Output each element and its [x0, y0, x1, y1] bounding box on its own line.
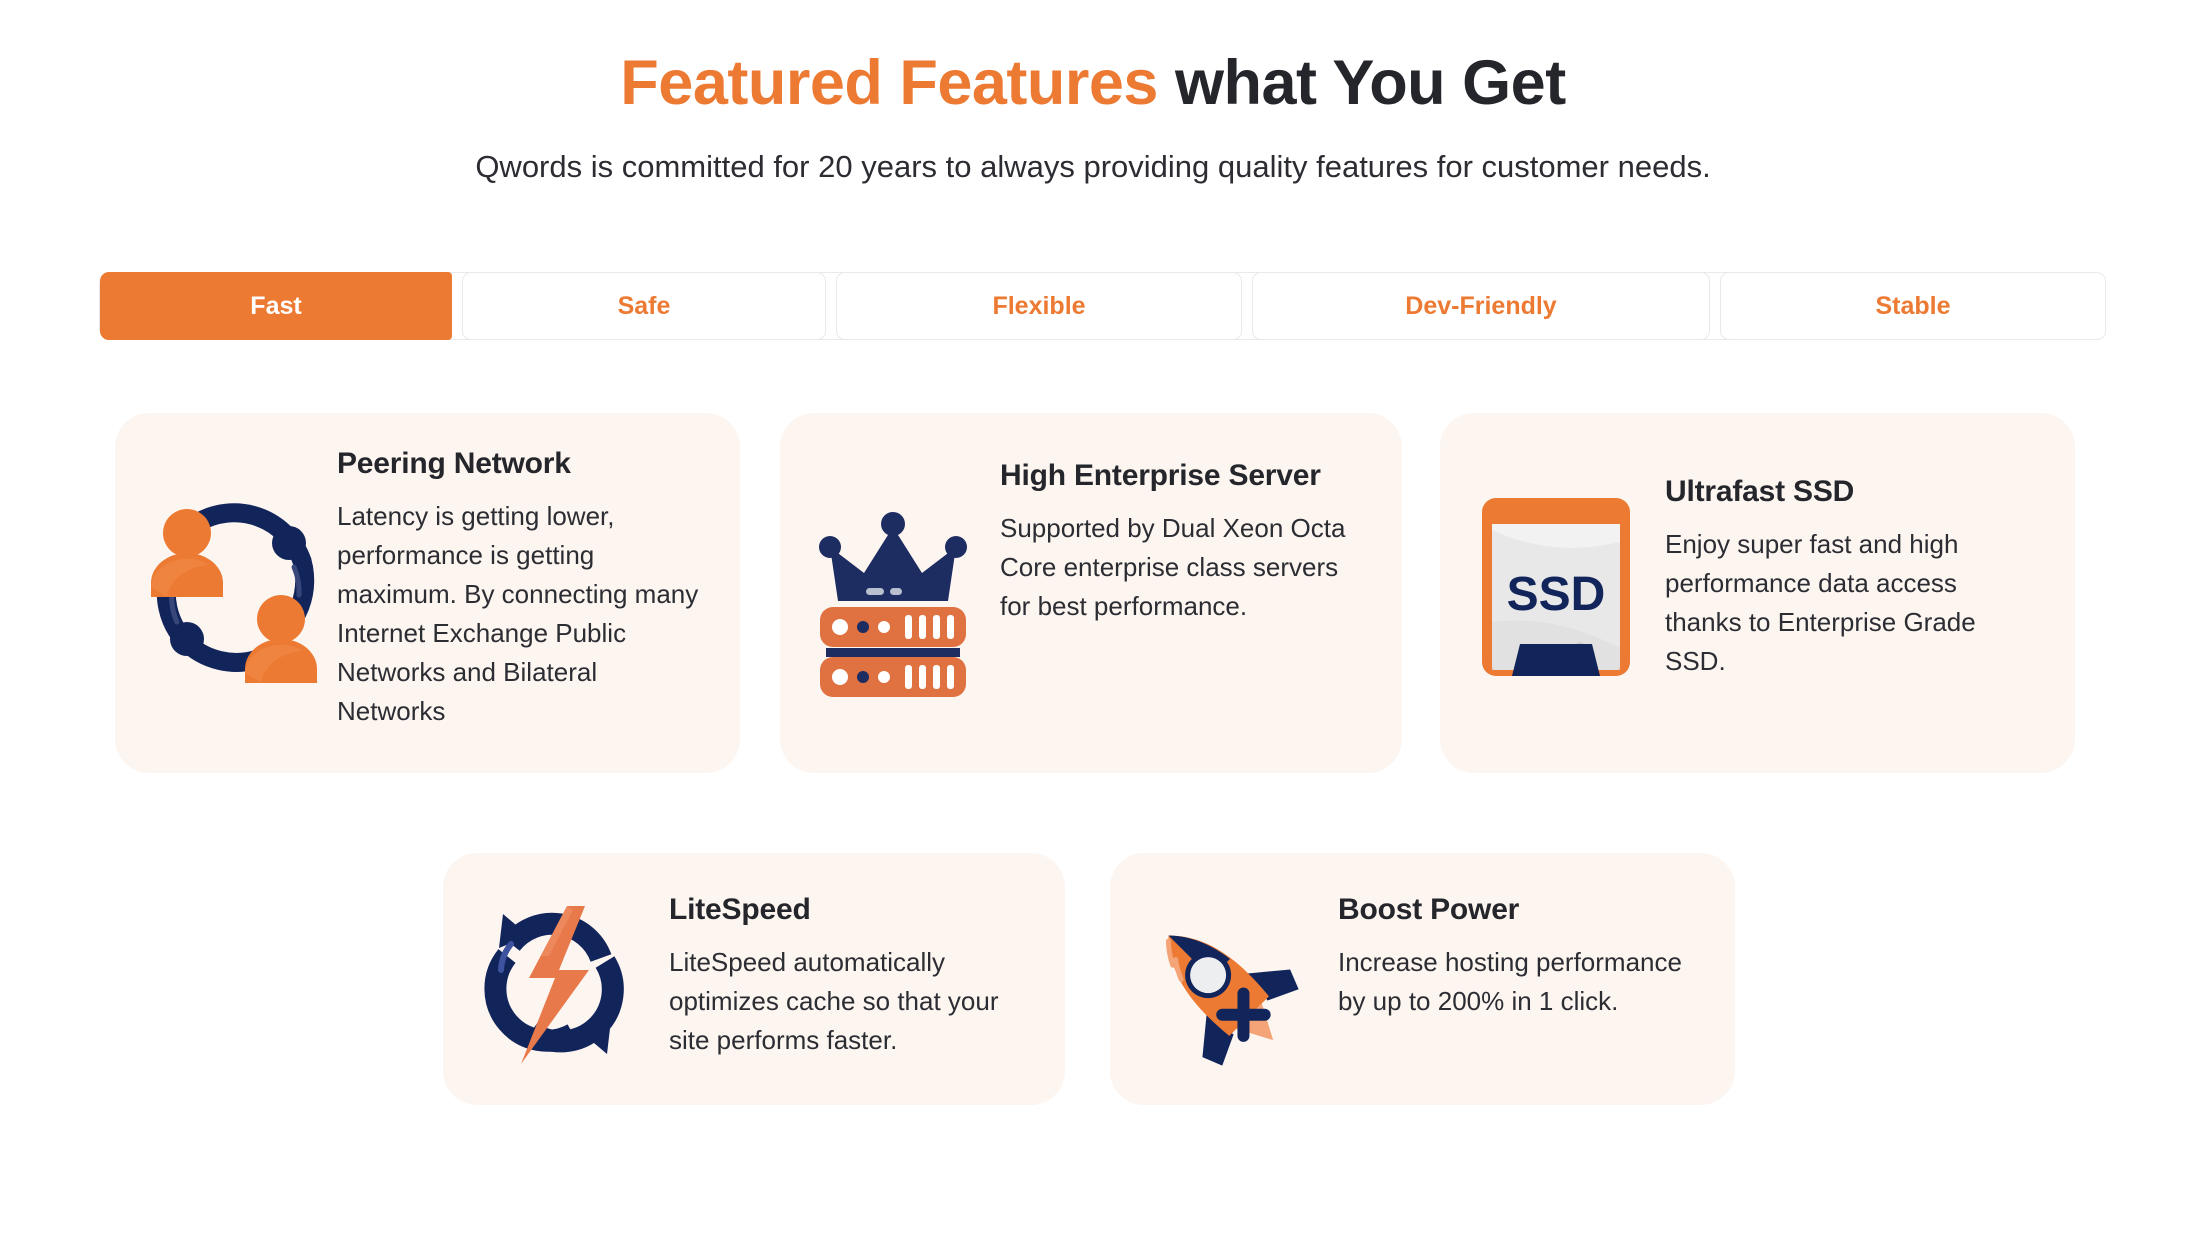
- card-title: High Enterprise Server: [1000, 457, 1358, 495]
- tab-dev-friendly[interactable]: Dev-Friendly: [1252, 272, 1710, 340]
- card-text-block: LiteSpeed LiteSpeed automatically optimi…: [669, 891, 1035, 1060]
- page-title-rest: what You Get: [1158, 48, 1566, 118]
- tab-stable[interactable]: Stable: [1720, 272, 2106, 340]
- card-title: LiteSpeed: [669, 891, 1035, 929]
- tab-flexible[interactable]: Flexible: [836, 272, 1242, 340]
- card-text-block: Boost Power Increase hosting performance…: [1338, 891, 1705, 1021]
- card-title: Boost Power: [1338, 891, 1705, 929]
- section-header: Featured Features what You Get Qwords is…: [0, 48, 2186, 187]
- card-description: Enjoy super fast and high performance da…: [1665, 525, 2031, 681]
- card-description: Latency is getting lower, performance is…: [337, 497, 700, 731]
- tab-safe[interactable]: Safe: [462, 272, 826, 340]
- feature-card-boost-power[interactable]: Boost Power Increase hosting performance…: [1110, 853, 1735, 1105]
- card-description: Increase hosting performance by up to 20…: [1338, 943, 1705, 1021]
- feature-card-high-enterprise-server[interactable]: High Enterprise Server Supported by Dual…: [780, 413, 1402, 773]
- card-description: LiteSpeed automatically optimizes cache …: [669, 943, 1035, 1060]
- peering-network-icon: [139, 475, 329, 705]
- feature-tabs: Fast Safe Flexible Dev-Friendly Stable: [99, 272, 2091, 340]
- rocket-boost-icon: [1138, 905, 1298, 1065]
- feature-card-peering-network[interactable]: Peering Network Latency is getting lower…: [115, 413, 740, 773]
- page-subtitle: Qwords is committed for 20 years to alwa…: [0, 147, 2186, 187]
- feature-card-ultrafast-ssd[interactable]: SSD Ultrafast SSD Enjoy super fast and h…: [1440, 413, 2075, 773]
- page-title: Featured Features what You Get: [0, 48, 2186, 119]
- litespeed-lightning-icon: [481, 905, 631, 1065]
- ssd-drive-icon: SSD: [1468, 489, 1643, 684]
- ssd-icon-label: SSD: [1506, 568, 1605, 621]
- page-title-accent: Featured Features: [620, 48, 1158, 118]
- features-section: Featured Features what You Get Qwords is…: [0, 0, 2186, 1236]
- card-text-block: High Enterprise Server Supported by Dual…: [1000, 457, 1358, 626]
- enterprise-server-crown-icon: [808, 505, 978, 685]
- card-text-block: Ultrafast SSD Enjoy super fast and high …: [1665, 473, 2031, 681]
- card-description: Supported by Dual Xeon Octa Core enterpr…: [1000, 509, 1358, 626]
- card-title: Peering Network: [337, 445, 700, 483]
- card-text-block: Peering Network Latency is getting lower…: [337, 445, 700, 731]
- tab-fast[interactable]: Fast: [100, 272, 452, 340]
- feature-card-litespeed[interactable]: LiteSpeed LiteSpeed automatically optimi…: [443, 853, 1065, 1105]
- card-title: Ultrafast SSD: [1665, 473, 2031, 511]
